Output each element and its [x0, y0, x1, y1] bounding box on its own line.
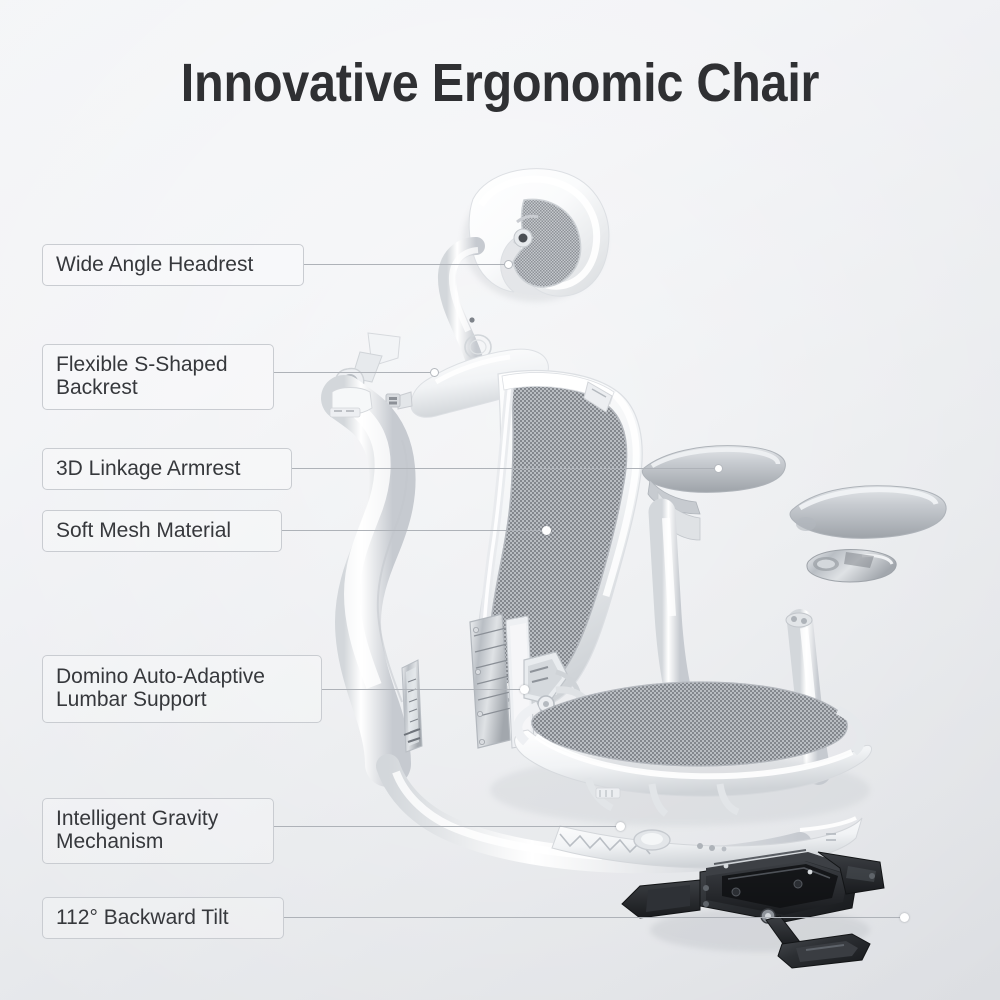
leader-dot-backrest — [430, 368, 439, 377]
s-shaped-backrest-column — [330, 388, 407, 765]
backrest-mesh-panel — [478, 371, 642, 710]
leader-line-headrest — [304, 264, 508, 265]
leader-dot-headrest — [504, 260, 513, 269]
headrest-mount-bracket — [336, 333, 400, 414]
leader-line-backrest — [274, 372, 434, 373]
callout-domino-auto-adaptive-lumbar-support[interactable]: Domino Auto-Adaptive Lumbar Support — [42, 655, 322, 723]
page-title: Innovative Ergonomic Chair — [50, 52, 950, 114]
leader-line-tilt — [284, 917, 904, 918]
tilt-mechanism — [622, 850, 884, 968]
leader-dot-lumbar — [520, 685, 529, 694]
backrest-top-arm — [386, 349, 548, 417]
leader-line-lumbar — [322, 689, 524, 690]
leader-dot-mesh — [542, 526, 551, 535]
leader-line-armrest — [292, 468, 718, 469]
seat-assembly — [490, 682, 872, 826]
leader-line-mesh — [282, 530, 546, 531]
leader-dot-gravity — [616, 822, 625, 831]
headrest-assembly — [447, 169, 609, 366]
leader-line-gravity — [274, 826, 620, 827]
callout-intelligent-gravity-mechanism[interactable]: Intelligent Gravity Mechanism — [42, 798, 274, 864]
lumbar-support-mechanism — [402, 614, 594, 752]
leader-dot-tilt — [900, 913, 909, 922]
armrest-assembly — [642, 446, 946, 772]
leader-dot-armrest — [714, 464, 723, 473]
callout-3d-linkage-armrest[interactable]: 3D Linkage Armrest — [42, 448, 292, 490]
callout-soft-mesh-material[interactable]: Soft Mesh Material — [42, 510, 282, 552]
callout-wide-angle-headrest[interactable]: Wide Angle Headrest — [42, 244, 304, 286]
callout-flexible-s-shaped-backrest[interactable]: Flexible S-Shaped Backrest — [42, 344, 274, 410]
base-frame — [388, 766, 862, 868]
callout-112-backward-tilt[interactable]: 112° Backward Tilt — [42, 897, 284, 939]
product-infographic: Innovative Ergonomic Chair Wide Angle He… — [0, 0, 1000, 1000]
